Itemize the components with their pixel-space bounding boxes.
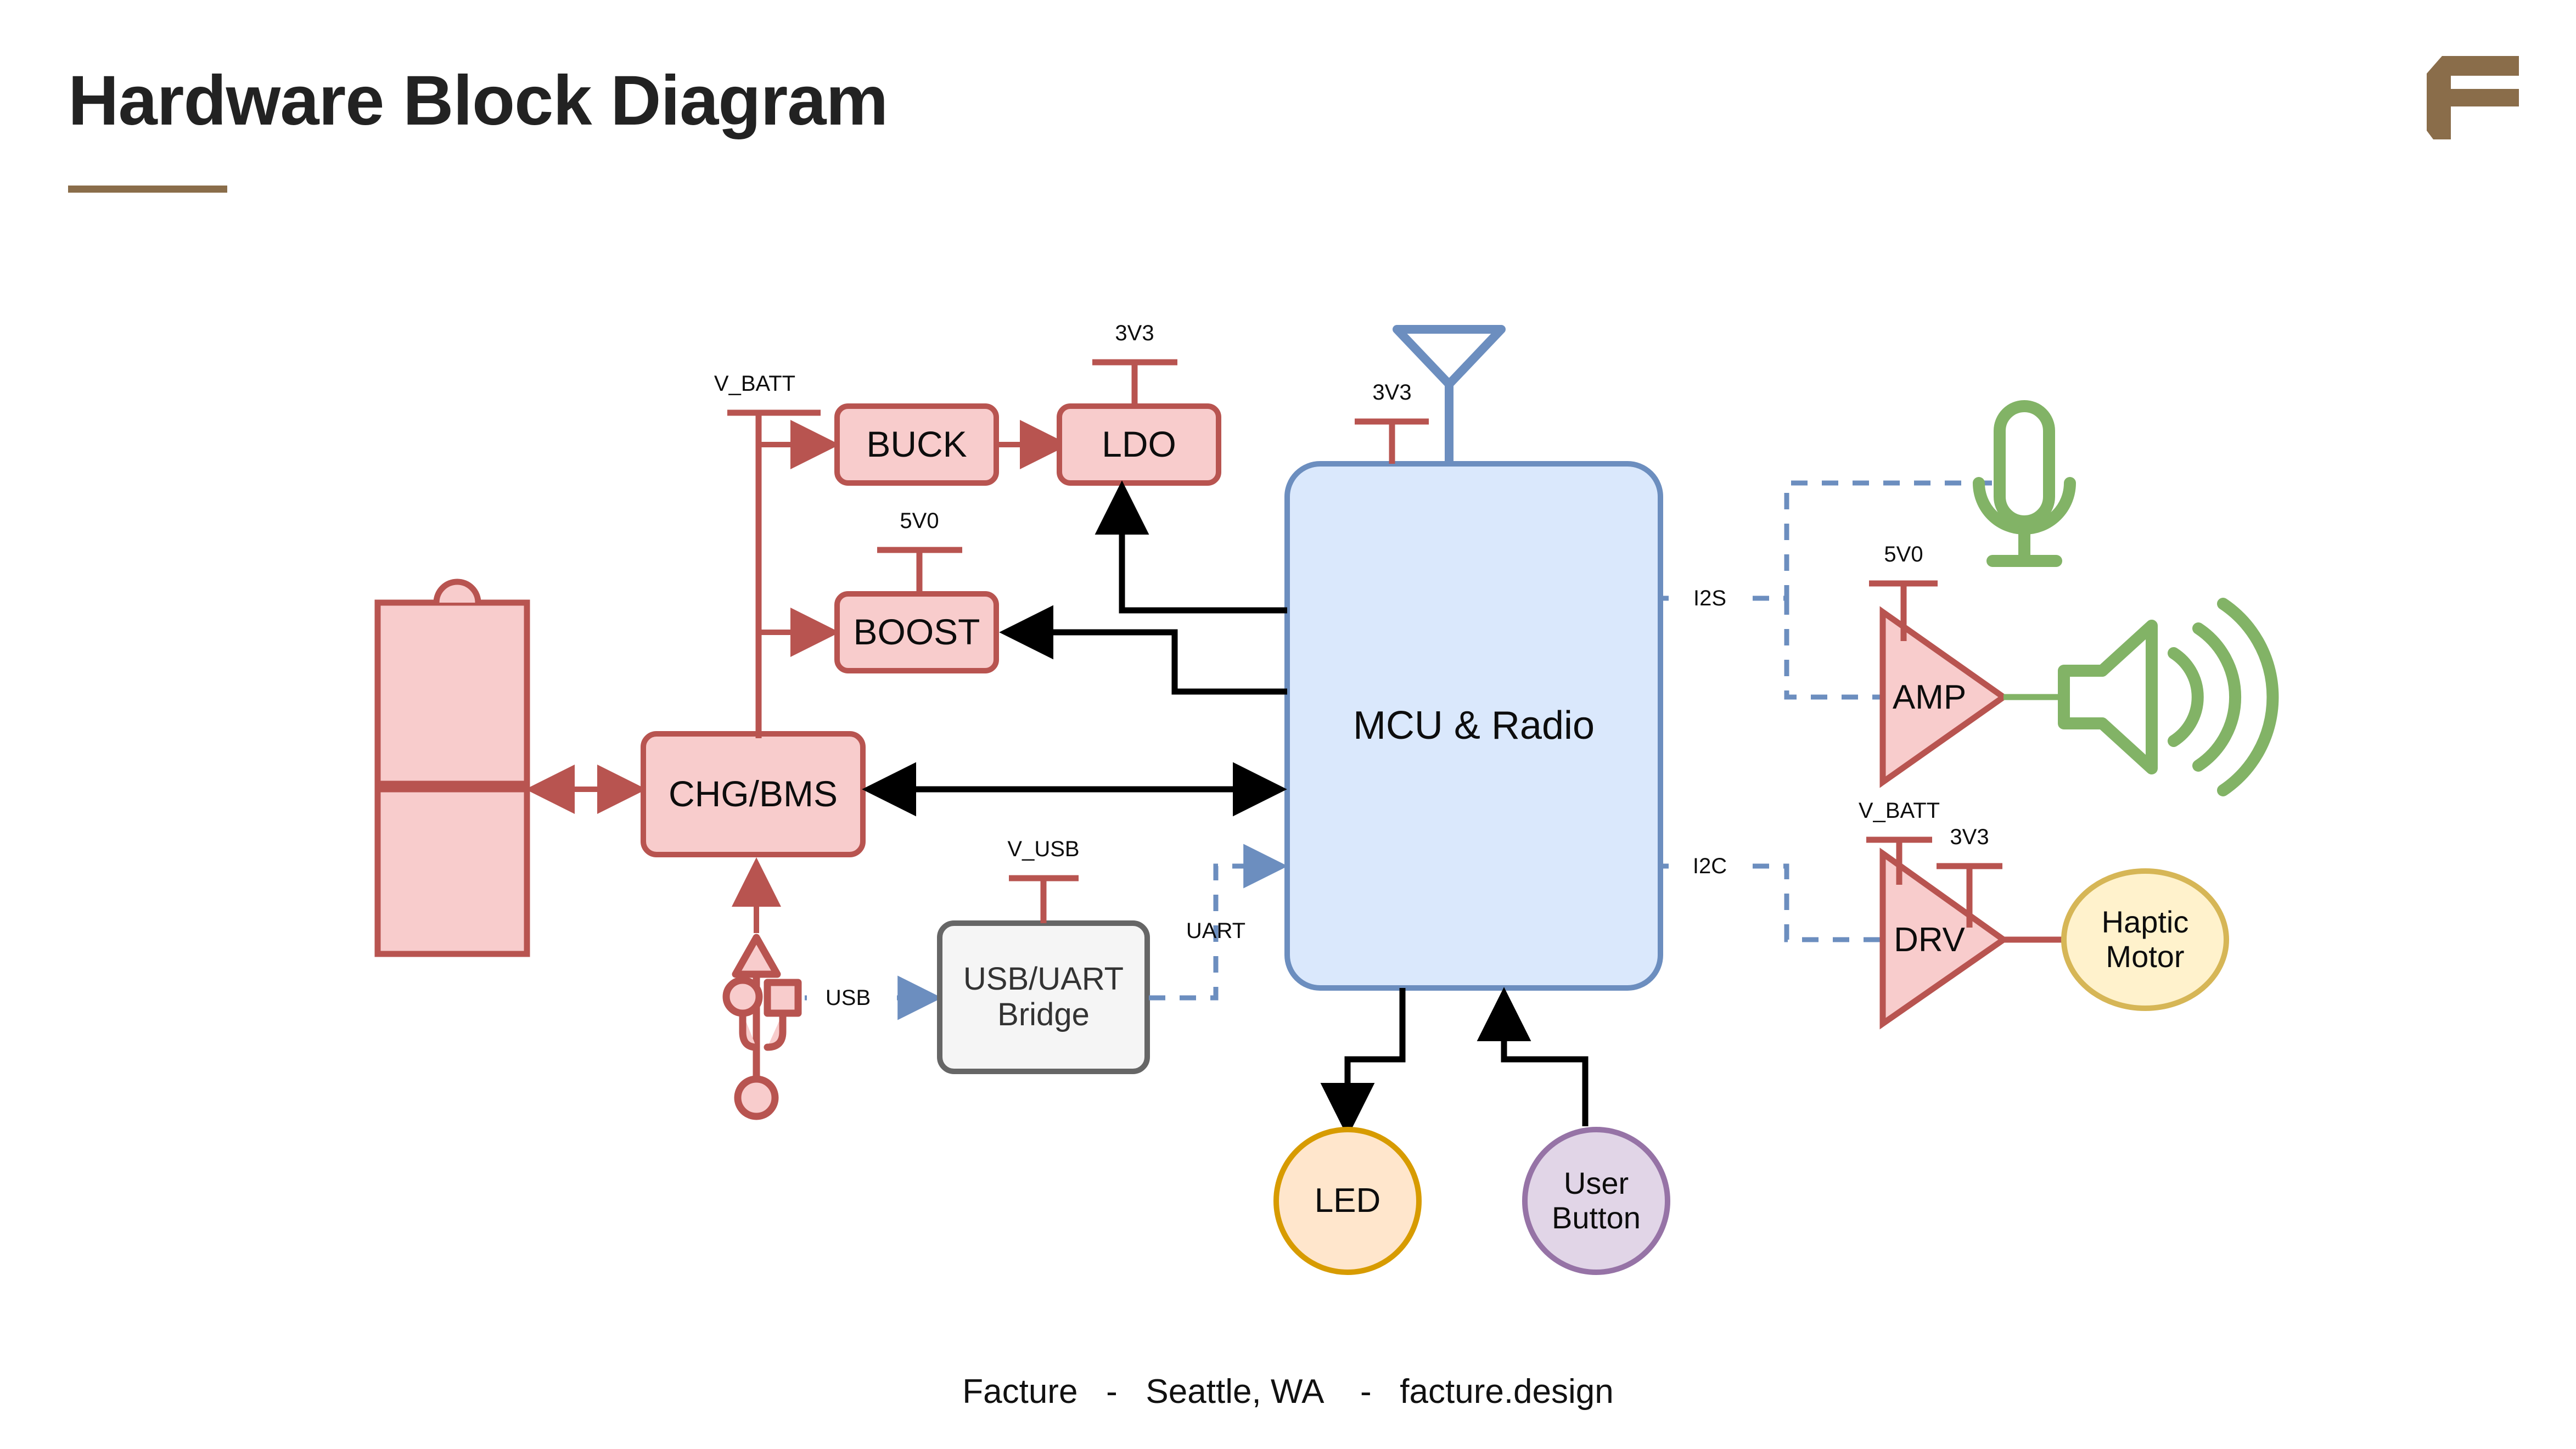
- wire-mcu-ldo-enable: [1122, 491, 1287, 610]
- node-user-button[interactable]: [1525, 1130, 1668, 1272]
- node-led[interactable]: [1276, 1130, 1419, 1272]
- slide-footer: Facture - Seattle, WA - facture.design: [0, 1372, 2576, 1411]
- node-haptic-motor[interactable]: [2064, 871, 2226, 1008]
- rail-v-batt: [727, 413, 821, 768]
- hardware-block-diagram: [0, 0, 2576, 1449]
- antenna-icon: [1397, 329, 1501, 464]
- bus-i2s-amp-branch: [1787, 598, 1880, 697]
- rail-amp-5v0: [1869, 583, 1938, 641]
- rail-boost-5v0: [877, 550, 962, 594]
- wire-mcu-led: [1348, 988, 1402, 1126]
- block-mcu-radio[interactable]: [1287, 464, 1660, 988]
- block-chg-bms[interactable]: [643, 734, 863, 855]
- battery-icon: [378, 582, 527, 954]
- usb-connector-icon: [726, 937, 798, 1116]
- wire-mcu-boost-enable: [1010, 632, 1287, 692]
- block-ldo[interactable]: [1059, 406, 1219, 483]
- block-boost[interactable]: [837, 594, 996, 671]
- bus-uart: [1149, 866, 1279, 998]
- rail-mcu-3v3: [1355, 422, 1429, 464]
- wire-button-mcu: [1504, 998, 1585, 1126]
- block-usb-uart-bridge[interactable]: [940, 923, 1147, 1071]
- rail-ldo-3v3: [1092, 362, 1177, 406]
- bus-i2c: [1660, 866, 1880, 940]
- block-buck[interactable]: [837, 406, 996, 483]
- microphone-icon: [1979, 406, 2070, 561]
- bus-i2s: [1660, 483, 2006, 598]
- rail-v-usb: [1009, 878, 1079, 923]
- speaker-icon: [2064, 604, 2272, 790]
